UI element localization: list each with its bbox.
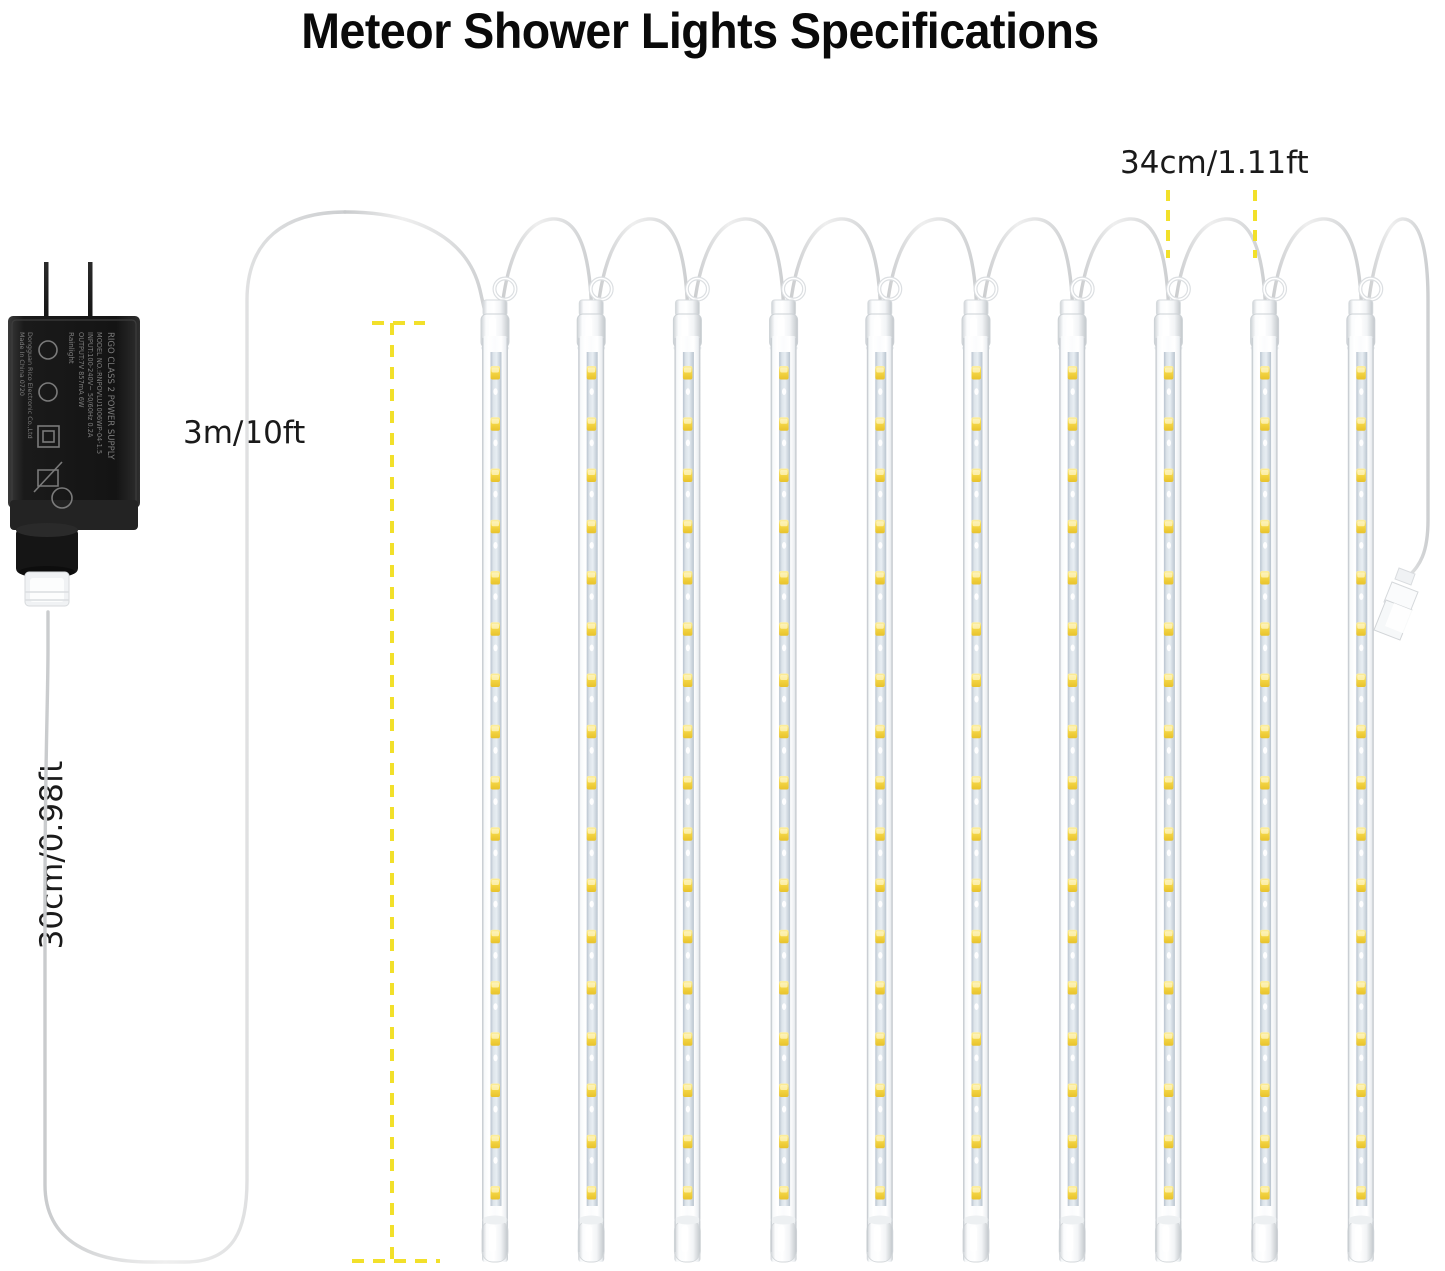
footer-line-1: Made In China 0720: [18, 332, 26, 396]
label-line-0: RIGO CLASS 2 POWER SUPPLY: [105, 332, 115, 460]
adapter-body: RIGO CLASS 2 POWER SUPPLY MODEL NO.:RNPO…: [8, 316, 140, 606]
footer-line-0: Dongguan Rico Electronic Co.,Ltd: [26, 332, 34, 439]
label-line-2: INPUT:100-240V~ 50/60Hz 0.2A: [86, 332, 94, 438]
power-adapter: RIGO CLASS 2 POWER SUPPLY MODEL NO.:RNPO…: [0, 0, 1445, 1271]
label-line-1: MODEL NO.:RNPOVLU1006WP-04-1.5: [95, 332, 103, 454]
adapter-prongs: [44, 262, 93, 322]
label-line-3: OUTPUT:7V 857mA 6W: [77, 332, 85, 408]
label-line-4: Rainlight: [67, 332, 76, 364]
specification-diagram: Meteor Shower Lights Specifications: [0, 0, 1445, 1271]
